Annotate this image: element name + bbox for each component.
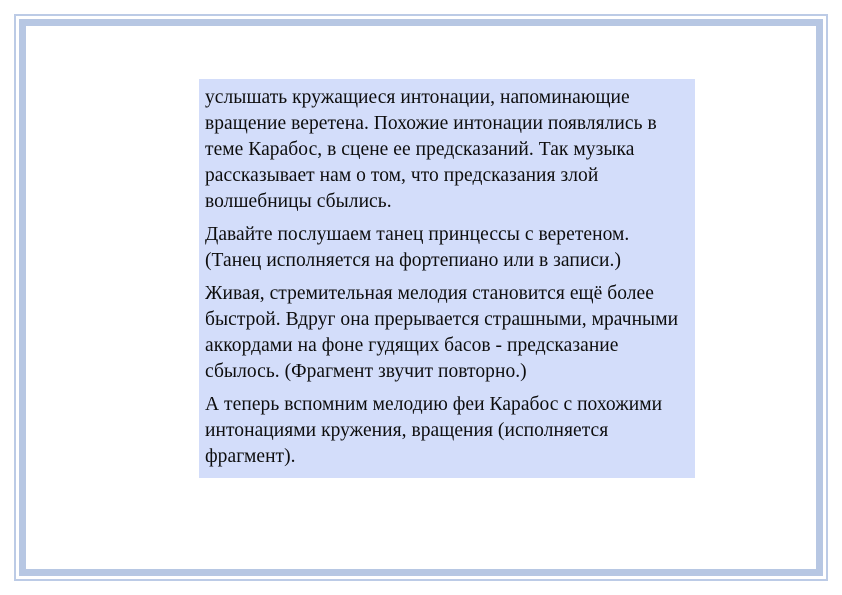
paragraph-4: А теперь вспомним мелодию феи Карабос с … [199,392,695,470]
paragraph-2: Давайте послушаем танец принцессы с вере… [199,222,695,274]
paragraph-3: Живая, стремительная мелодия становится … [199,281,695,385]
slide-canvas: услышать кружащиеся интонации, напоминаю… [0,0,842,595]
paragraph-1: услышать кружащиеся интонации, напоминаю… [199,85,695,215]
slide-text-block: услышать кружащиеся интонации, напоминаю… [199,79,695,478]
